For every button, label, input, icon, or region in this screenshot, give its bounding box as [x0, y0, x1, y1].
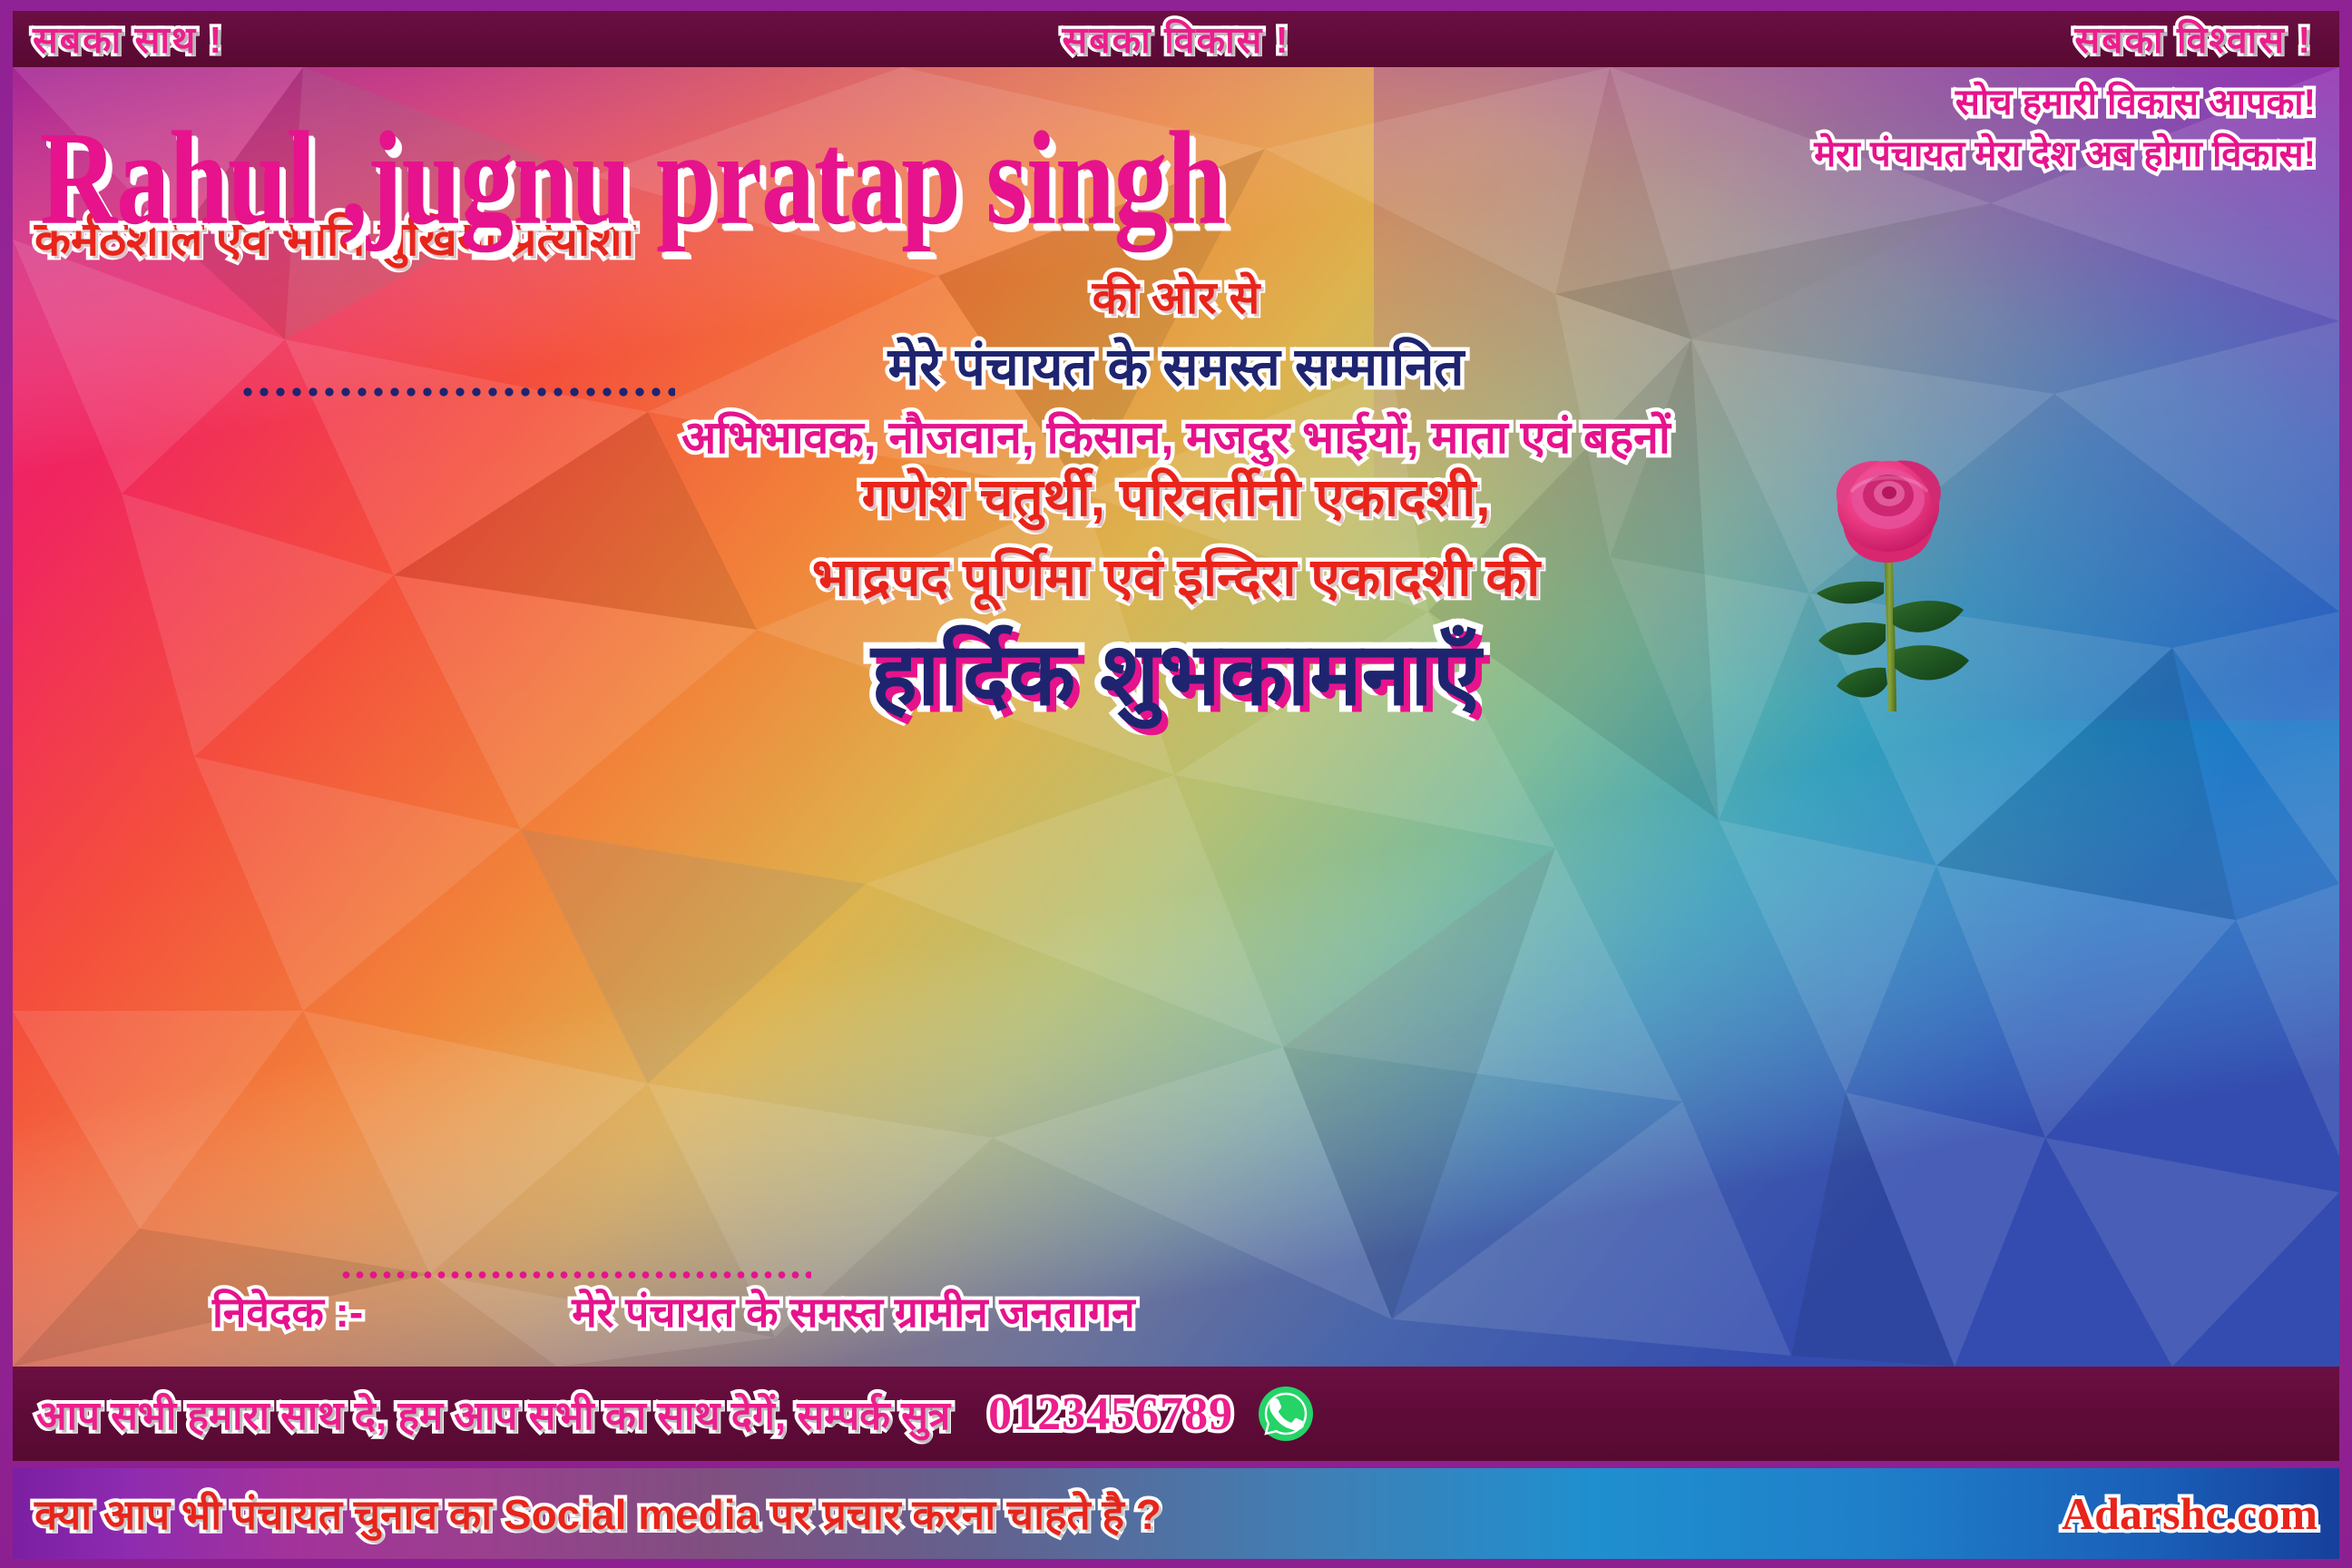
footer-support-message: आप सभी हमारा साथ दे, हम आप सभी का साथ दे…	[36, 1387, 950, 1441]
festival-line-2: भाद्रपद पूर्णिमा एवं इन्दिरा एकादशी की	[812, 539, 1540, 611]
sender-row: निवेदक :- मेरे पंचायत के समस्त ग्रामीन ज…	[13, 1283, 2339, 1339]
dotted-divider-top	[240, 387, 675, 397]
whatsapp-icon[interactable]	[1257, 1385, 1315, 1443]
slogan-left-slot: सबका साथ !	[33, 14, 223, 64]
footer-promo-message: क्या आप भी पंचायत चुनाव का Social media …	[34, 1485, 1161, 1542]
tagline-line-2: मेरा पंचायत मेरा देश अब होगा विकास!	[1814, 133, 2316, 176]
slogan-center: सबका विकास !	[1063, 19, 1290, 61]
slogan-right: सबका विश्वास !	[2074, 19, 2312, 61]
dotted-divider-bottom	[339, 1270, 811, 1279]
footer-phone-number[interactable]: 0123456789	[988, 1387, 1233, 1441]
candidate-name: Rahul ,jugnu pratap singh	[40, 102, 1225, 256]
sender-label: निवेदक :-	[212, 1283, 363, 1339]
slogan-center-slot: सबका विकास !	[1063, 14, 1290, 64]
footer-contact-bar: आप सभी हमारा साथ दे, हम आप सभी का साथ दे…	[13, 1367, 2339, 1461]
election-greeting-poster: सबका साथ ! सबका विकास ! सबका विश्वास !	[0, 0, 2352, 1568]
footer-promo-bar: क्या आप भी पंचायत चुनाव का Social media …	[13, 1468, 2339, 1559]
addressee-line-2: अभिभावक, नौजवान, किसान, मजदुर भाईयों, मा…	[681, 405, 1671, 466]
poster-main-canvas: सोच हमारी विकास आपका! मेरा पंचायत मेरा द…	[13, 67, 2339, 1367]
sender-value: मेरे पंचायत के समस्त ग्रामीन जनतागन	[572, 1283, 1134, 1339]
blessing-text: हार्दिक शुभकामनाएँ	[871, 612, 1481, 730]
from-line: की ओर से	[1093, 265, 1260, 327]
tagline-line-1: सोच हमारी विकास आपका!	[1814, 82, 2316, 124]
addressee-line-1: मेरे पंचायत के समस्त सम्मानित	[888, 328, 1465, 400]
slogan-right-slot: सबका विश्वास !	[2074, 14, 2312, 64]
footer-website-link[interactable]: Adarshc.com	[2062, 1487, 2318, 1540]
rose-flower-icon	[1786, 446, 1994, 719]
tagline-group: सोच हमारी विकास आपका! मेरा पंचायत मेरा द…	[1814, 82, 2316, 176]
slogan-left: सबका साथ !	[33, 19, 223, 61]
top-slogan-bar: सबका साथ ! सबका विकास ! सबका विश्वास !	[13, 11, 2339, 67]
festival-line-1: गणेश चतुर्थी, परिवर्तीनी एकादशी,	[862, 459, 1491, 531]
